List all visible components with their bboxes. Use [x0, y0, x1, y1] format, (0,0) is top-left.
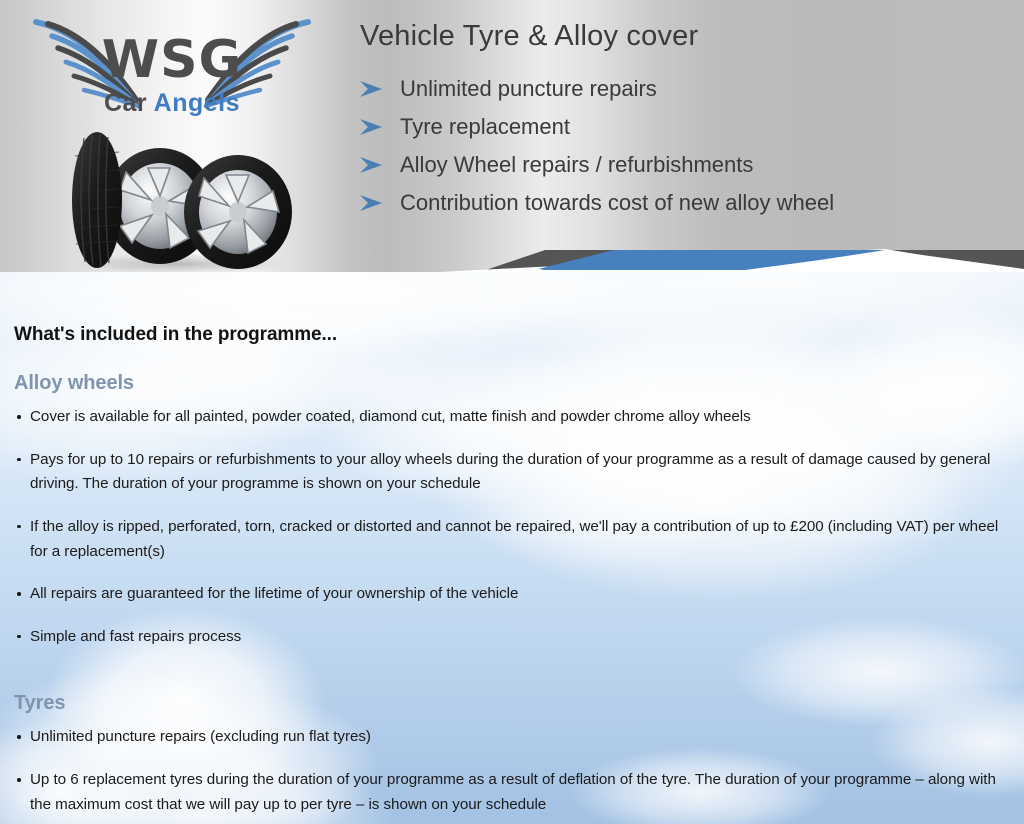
banner-feature-label: Unlimited puncture repairs [400, 76, 657, 102]
list-item: Cover is available for all painted, powd… [14, 405, 1010, 430]
section-heading-tyres: Tyres [14, 667, 1010, 715]
tyres-point-list: Unlimited puncture repairs (excluding ru… [14, 715, 1010, 824]
logo-subtitle-car: Car [104, 89, 154, 117]
logo-subtitle: Car Angels [22, 91, 322, 116]
list-item: If the alloy is ripped, perforated, torn… [14, 515, 1010, 564]
logo-subtitle-angels: Angels [154, 89, 240, 117]
content-area: What's included in the programme... Allo… [0, 272, 1024, 824]
alloy-wheels-point-list: Cover is available for all painted, powd… [14, 395, 1010, 649]
banner-feature-label: Tyre replacement [400, 114, 570, 140]
page-title: What's included in the programme... [14, 272, 1010, 346]
list-item: Up to 6 replacement tyres during the dur… [14, 768, 1010, 817]
brand-logo: WSG Car Angels [22, 8, 322, 133]
list-item: Unlimited puncture repairs (excluding ru… [14, 725, 1010, 750]
chevron-right-icon [358, 156, 384, 174]
banner-feature-label: Alloy Wheel repairs / refurbishments [400, 152, 753, 178]
chevron-right-icon [358, 118, 384, 136]
banner-headline: Vehicle Tyre & Alloy cover [360, 20, 698, 53]
list-item: Pays for up to 10 repairs or refurbishme… [14, 448, 1010, 497]
list-item: All repairs are guaranteed for the lifet… [14, 582, 1010, 607]
banner-feature-item: Unlimited puncture repairs [358, 70, 834, 108]
banner-feature-list: Unlimited puncture repairs Tyre replacem… [358, 70, 834, 222]
chevron-right-icon [358, 194, 384, 212]
banner-feature-item: Alloy Wheel repairs / refurbishments [358, 146, 834, 184]
banner-feature-item: Tyre replacement [358, 108, 834, 146]
list-item: Simple and fast repairs process [14, 625, 1010, 650]
chevron-right-icon [358, 80, 384, 98]
header-banner: WSG Car Angels [0, 0, 1024, 272]
banner-feature-item: Contribution towards cost of new alloy w… [358, 184, 834, 222]
banner-wedge-decoration [0, 222, 1024, 272]
banner-feature-label: Contribution towards cost of new alloy w… [400, 190, 834, 216]
section-heading-alloy-wheels: Alloy wheels [14, 346, 1010, 395]
logo-brand-text: WSG [22, 34, 322, 86]
